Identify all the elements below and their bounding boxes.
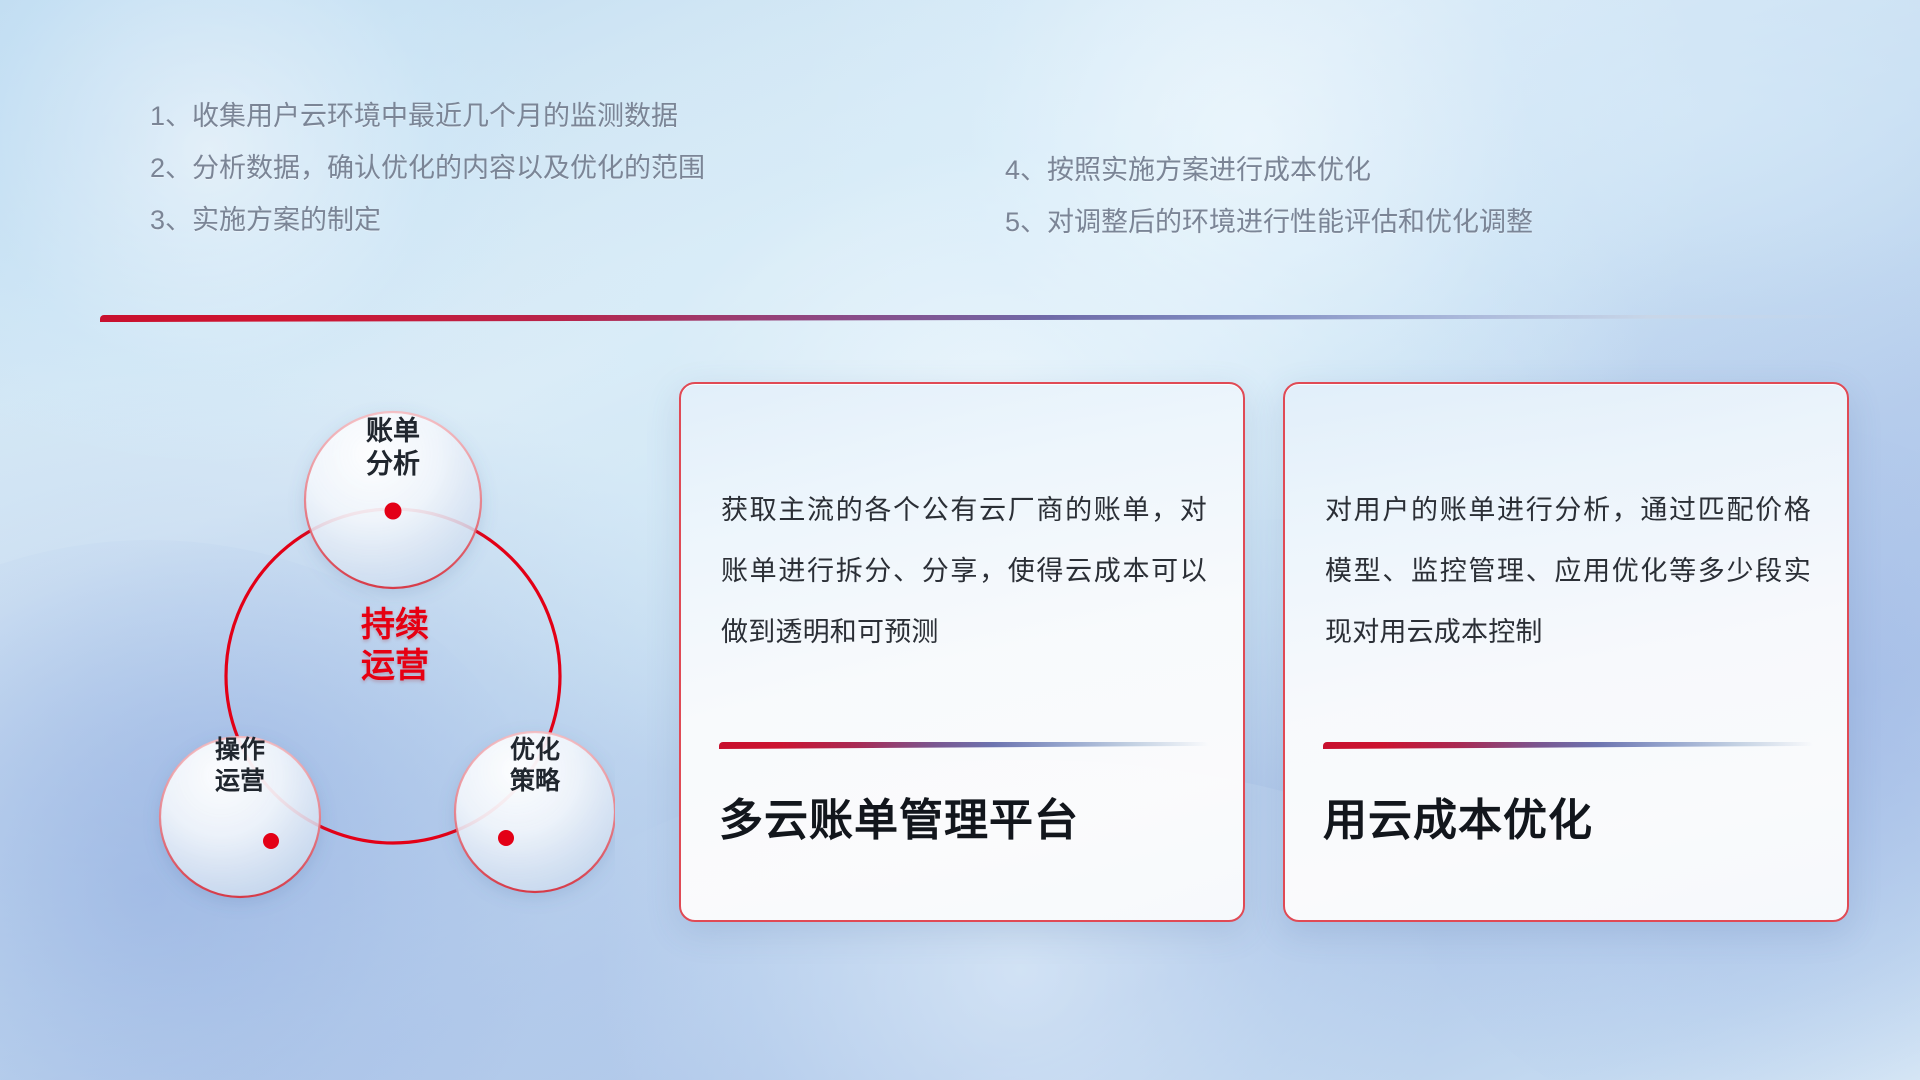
- card-accent-rule: [719, 742, 1209, 749]
- venn-node-top: [385, 503, 402, 520]
- card-multi-cloud-billing[interactable]: 获取主流的各个公有云厂商的账单，对账单进行拆分、分享，使得云成本可以做到透明和可…: [679, 382, 1245, 922]
- card-body-text: 对用户的账单进行分析，通过匹配价格模型、监控管理、应用优化等多少段实现对用云成本…: [1325, 480, 1811, 662]
- venn-label-continuous-operation: 持续 运营: [310, 605, 480, 688]
- venn-node-bottom-left: [263, 833, 279, 849]
- steps-right-column: 4、按照实施方案进行成本优化 5、对调整后的环境进行性能评估和优化调整: [1005, 157, 1533, 261]
- step-item-2: 2、分析数据，确认优化的内容以及优化的范围: [150, 155, 705, 182]
- card-title: 用云成本优化: [1323, 784, 1817, 848]
- card-title: 多云账单管理平台: [719, 784, 1213, 848]
- step-item-1: 1、收集用户云环境中最近几个月的监测数据: [150, 103, 705, 130]
- venn-diagram: 账单 分析 持续 运营 操作 运营 优化 策略: [95, 360, 615, 920]
- steps-left-column: 1、收集用户云环境中最近几个月的监测数据 2、分析数据，确认优化的内容以及优化的…: [150, 103, 705, 259]
- step-item-3: 3、实施方案的制定: [150, 207, 705, 234]
- section-divider-rule: [100, 315, 1860, 322]
- venn-label-operations: 操作 运营: [155, 735, 325, 796]
- venn-label-optimization-strategy: 优化 策略: [450, 735, 620, 796]
- card-body-text: 获取主流的各个公有云厂商的账单，对账单进行拆分、分享，使得云成本可以做到透明和可…: [721, 480, 1207, 662]
- step-item-5: 5、对调整后的环境进行性能评估和优化调整: [1005, 209, 1533, 236]
- step-item-4: 4、按照实施方案进行成本优化: [1005, 157, 1533, 184]
- venn-label-billing-analysis: 账单 分析: [308, 415, 478, 481]
- card-accent-rule: [1323, 742, 1813, 749]
- venn-node-bottom-right: [498, 830, 514, 846]
- card-cloud-cost-optimization[interactable]: 对用户的账单进行分析，通过匹配价格模型、监控管理、应用优化等多少段实现对用云成本…: [1283, 382, 1849, 922]
- slide-canvas: 1、收集用户云环境中最近几个月的监测数据 2、分析数据，确认优化的内容以及优化的…: [0, 0, 1920, 1080]
